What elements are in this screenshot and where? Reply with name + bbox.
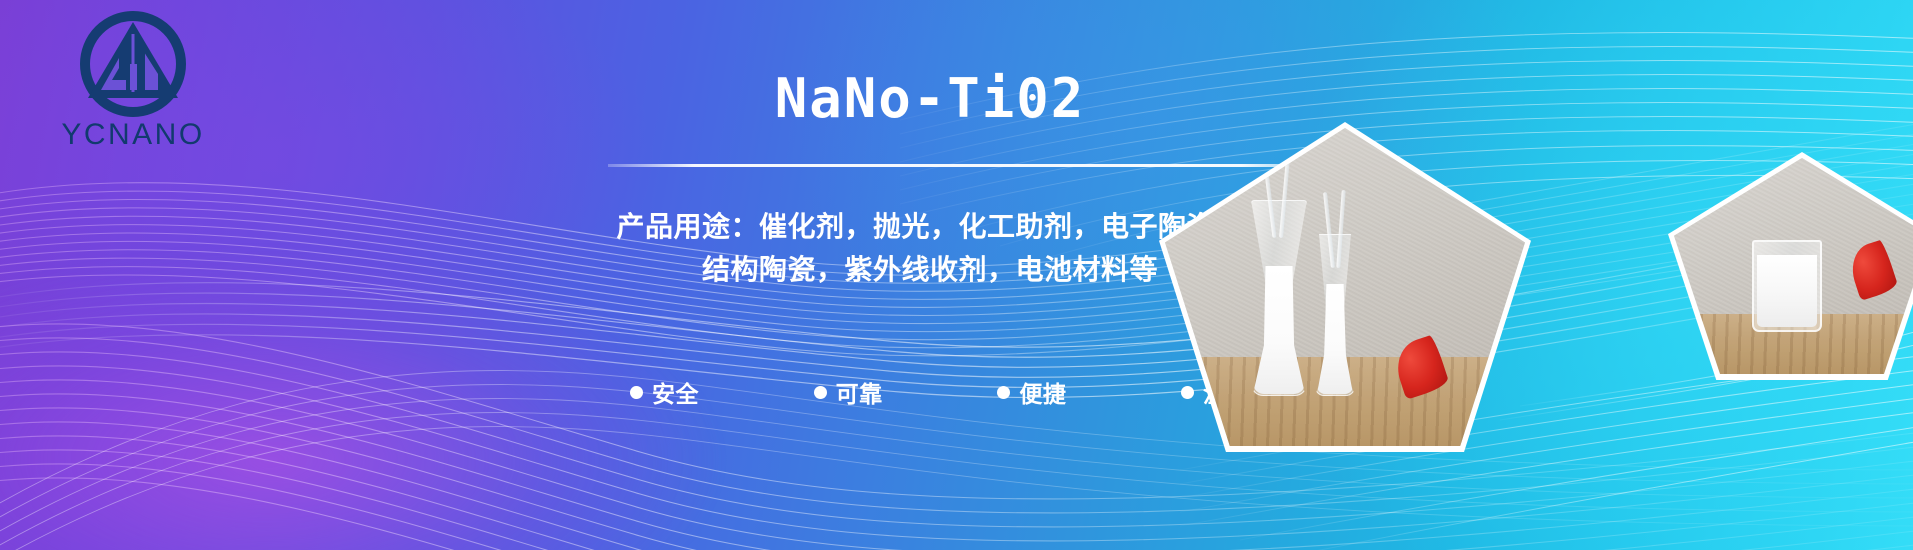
- beaker-liquid: [1757, 255, 1817, 327]
- bullet-dot-icon: [1181, 386, 1194, 399]
- company-logo: YCNANO: [38, 8, 228, 152]
- product-image-beaker: [1668, 152, 1913, 380]
- short-vase-liquid: [1317, 284, 1353, 394]
- tall-vase: [1251, 200, 1307, 396]
- feature-item-reliable: 可靠: [814, 375, 883, 409]
- glass-beaker: [1752, 240, 1822, 332]
- bullet-dot-icon: [630, 386, 643, 399]
- bullet-dot-icon: [997, 386, 1010, 399]
- logo-wordmark: YCNANO: [38, 118, 228, 152]
- feature-item-safe: 安全: [630, 375, 699, 409]
- product-banner: YCNANO NaNo-Ti02 产品用途：催化剂，抛光，化工助剂，电子陶瓷， …: [0, 0, 1913, 550]
- feature-label: 安全: [652, 375, 699, 409]
- feature-list: 安全 可靠 便捷 温和: [630, 375, 1250, 409]
- tall-vase-liquid: [1253, 266, 1305, 394]
- photo-beaker-scene: [1674, 158, 1913, 374]
- feature-label: 可靠: [836, 375, 883, 409]
- title-divider: [608, 164, 1328, 167]
- ycnano-circle-mountain-icon: [74, 8, 192, 120]
- feature-item-convenient: 便捷: [997, 375, 1066, 409]
- short-vase: [1315, 234, 1355, 396]
- page-title: NaNo-Ti02: [480, 72, 1380, 126]
- bullet-dot-icon: [814, 386, 827, 399]
- feature-label: 便捷: [1019, 375, 1066, 409]
